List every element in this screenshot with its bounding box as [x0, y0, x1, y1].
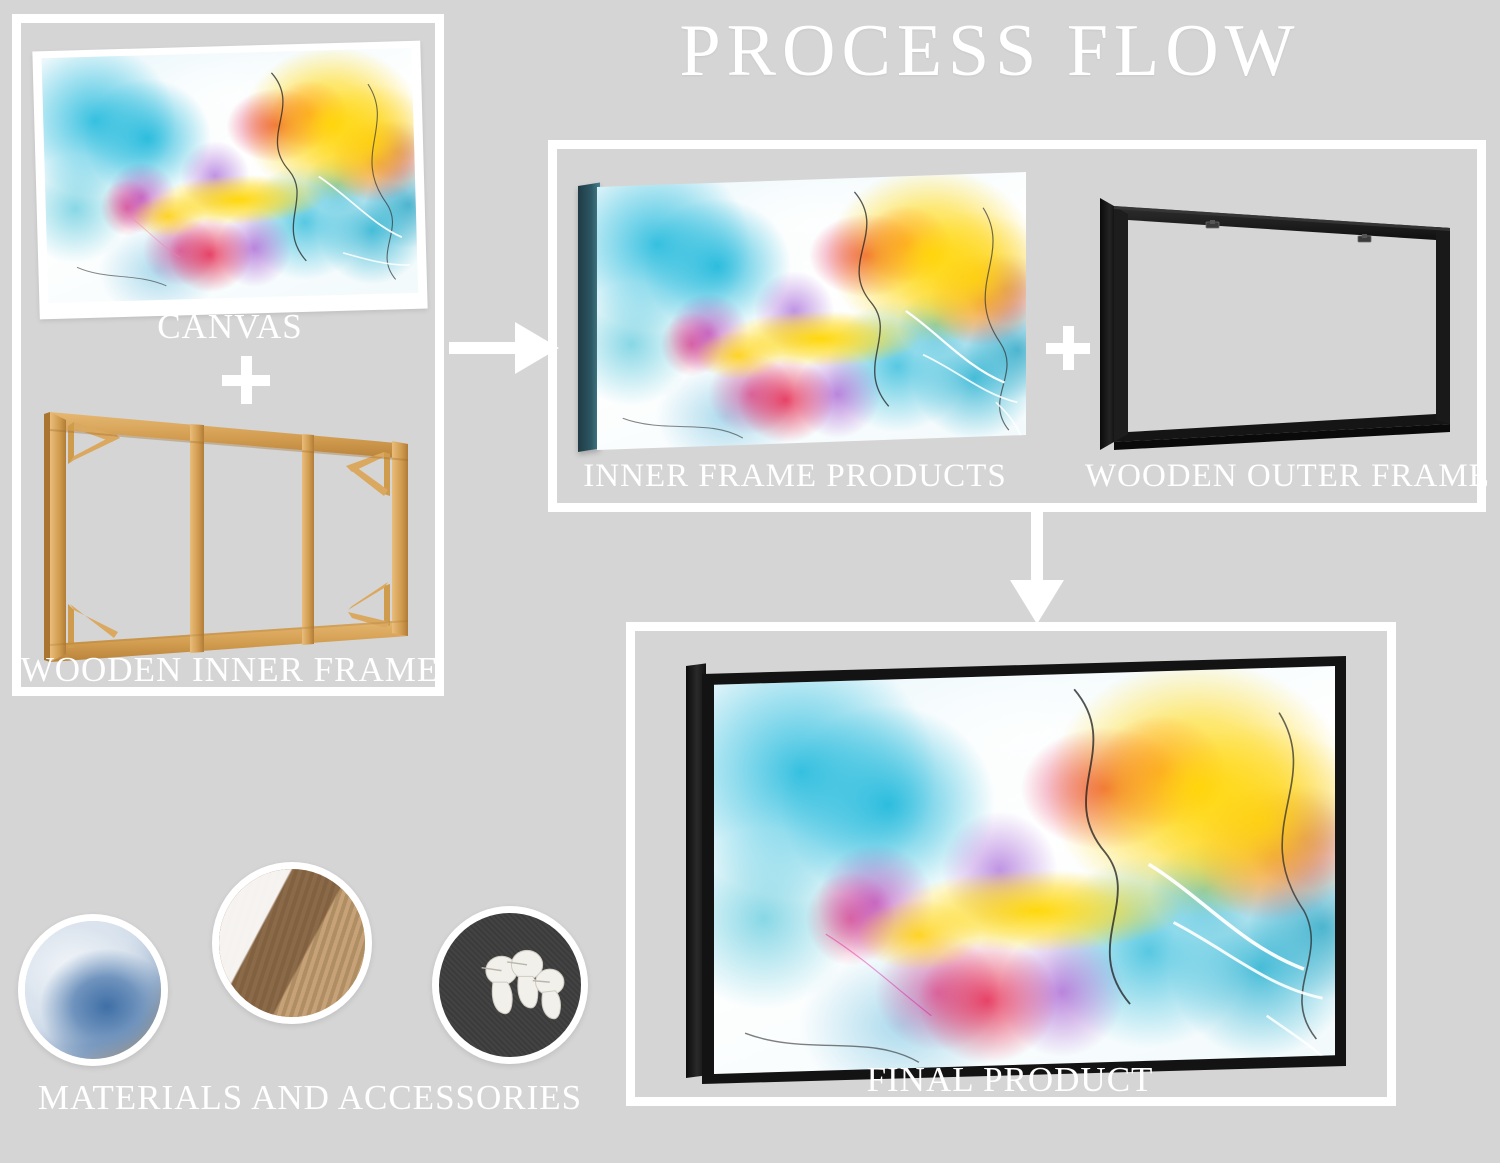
canvas-edge-depth [578, 183, 600, 452]
label-wooden-inner-frame: WOODEN INNER FRAME [20, 650, 440, 690]
wooden-inner-frame-illustration [40, 404, 420, 676]
inner-frame-product-illustration [578, 172, 1026, 452]
label-wooden-outer-frame: WOODEN OUTER FRAME [1085, 458, 1475, 495]
arrow-right-icon [449, 320, 559, 376]
ink-squiggles [714, 666, 1335, 1074]
label-final-product: FINAL PRODUCT [700, 1060, 1320, 1100]
abstract-artwork-canvas [42, 48, 419, 303]
plus-icon-inner-outer [1046, 326, 1090, 370]
frame-body [702, 656, 1346, 1084]
canvas-print [32, 41, 427, 320]
label-inner-frame-products: INNER FRAME PRODUCTS [560, 458, 1030, 495]
page-title: PROCESS FLOW [640, 14, 1340, 88]
wooden-outer-frame-illustration [1098, 192, 1456, 454]
label-materials-and-accessories: MATERIALS AND ACCESSORIES [30, 1078, 590, 1118]
final-product-illustration [686, 656, 1346, 1084]
abstract-artwork-inner-frame [597, 172, 1026, 450]
accessory-wood-and-paper [212, 862, 372, 1024]
accessory-canvas-roll [18, 914, 168, 1066]
label-canvas: CANVAS [40, 307, 420, 347]
ink-squiggles [597, 172, 1026, 450]
accessory-wall-hooks [432, 906, 588, 1064]
canvas-face [597, 172, 1026, 450]
arrow-down-icon [1008, 512, 1066, 624]
process-flow-diagram: PROCESS FLOW CANVAS [0, 0, 1500, 1163]
plus-icon-canvas-frame [222, 356, 270, 404]
abstract-artwork-final [714, 666, 1335, 1074]
framed-artwork [714, 666, 1335, 1074]
ink-squiggles [42, 48, 419, 303]
